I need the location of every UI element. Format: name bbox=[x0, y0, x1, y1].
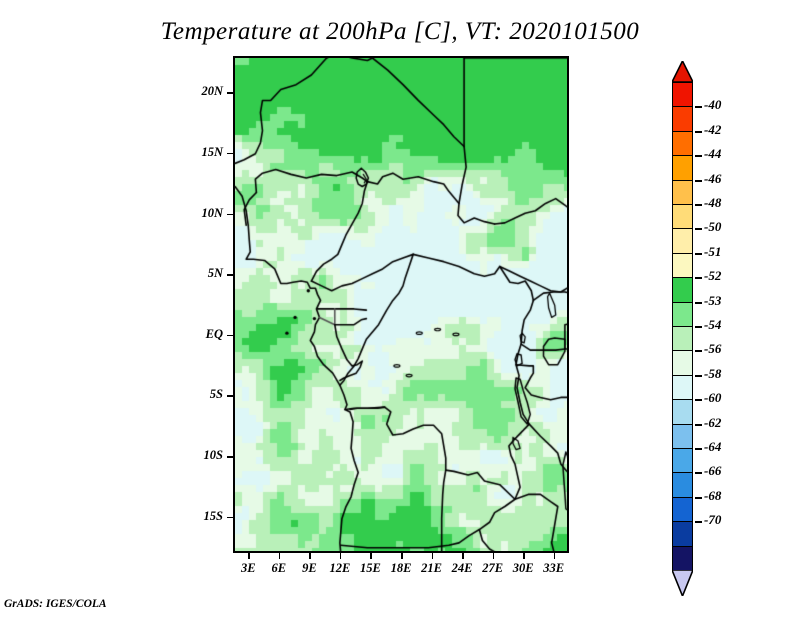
colorbar-tick bbox=[695, 155, 702, 157]
colorbar-tick-label: -53 bbox=[704, 293, 721, 309]
colorbar-swatch bbox=[672, 228, 693, 254]
latitude-tick-label: 5N bbox=[171, 266, 223, 281]
colorbar-swatch bbox=[672, 472, 693, 498]
colorbar-swatch bbox=[672, 204, 693, 230]
colorbar-tick-label: -60 bbox=[704, 390, 721, 406]
colorbar-tick bbox=[695, 180, 702, 182]
longitude-tick bbox=[370, 553, 372, 559]
colorbar-tick-label: -42 bbox=[704, 122, 721, 138]
colorbar-swatch bbox=[672, 399, 693, 425]
colorbar-tick-label: -52 bbox=[704, 268, 721, 284]
colorbar-swatch bbox=[672, 131, 693, 157]
colorbar-tick bbox=[695, 448, 702, 450]
colorbar-tick bbox=[695, 350, 702, 352]
colorbar-swatch bbox=[672, 302, 693, 328]
colorbar-tick bbox=[695, 131, 702, 133]
colorbar-swatch bbox=[672, 277, 693, 303]
colorbar-tick bbox=[695, 521, 702, 523]
colorbar-swatch bbox=[672, 546, 693, 572]
colorbar-tick bbox=[695, 204, 702, 206]
colorbar-tick-label: -66 bbox=[704, 463, 721, 479]
colorbar-tick bbox=[695, 375, 702, 377]
colorbar-tick bbox=[695, 497, 702, 499]
latitude-tick-label: 10N bbox=[171, 206, 223, 221]
latitude-tick bbox=[227, 517, 233, 519]
colorbar-tick-label: -54 bbox=[704, 317, 721, 333]
colorbar-tick bbox=[695, 399, 702, 401]
latitude-tick-label: 15N bbox=[171, 145, 223, 160]
colorbar-tick-label: -40 bbox=[704, 97, 721, 113]
latitude-tick-label: 10S bbox=[171, 448, 223, 463]
longitude-tick bbox=[279, 553, 281, 559]
latitude-tick bbox=[227, 456, 233, 458]
colorbar-tick bbox=[695, 253, 702, 255]
colorbar-swatch bbox=[672, 106, 693, 132]
colorbar-tick-label: -64 bbox=[704, 439, 721, 455]
longitude-tick bbox=[462, 553, 464, 559]
colorbar-swatch bbox=[672, 180, 693, 206]
colorbar-tick-label: -44 bbox=[704, 146, 721, 162]
latitude-tick bbox=[227, 395, 233, 397]
colorbar-swatch bbox=[672, 375, 693, 401]
colorbar-tick bbox=[695, 326, 702, 328]
longitude-tick bbox=[493, 553, 495, 559]
colorbar-tick-label: -46 bbox=[704, 171, 721, 187]
colorbar-tick-label: -58 bbox=[704, 366, 721, 382]
colorbar-swatch bbox=[672, 350, 693, 376]
colorbar-tick bbox=[695, 472, 702, 474]
colorbar-swatch bbox=[672, 253, 693, 279]
colorbar-tick bbox=[695, 302, 702, 304]
colorbar-tick-label: -68 bbox=[704, 488, 721, 504]
latitude-tick-label: 5S bbox=[171, 387, 223, 402]
colorbar-swatch bbox=[672, 82, 693, 108]
latitude-tick-label: EQ bbox=[171, 327, 223, 342]
colorbar-tick-label: -48 bbox=[704, 195, 721, 211]
colorbar-swatch bbox=[672, 155, 693, 181]
longitude-tick bbox=[432, 553, 434, 559]
colorbar-tick bbox=[695, 106, 702, 108]
longitude-tick bbox=[401, 553, 403, 559]
colorbar-tick bbox=[695, 277, 702, 279]
latitude-tick-label: 20N bbox=[171, 84, 223, 99]
page-title: Temperature at 200hPa [C], VT: 202010150… bbox=[0, 18, 800, 46]
longitude-tick bbox=[340, 553, 342, 559]
longitude-tick bbox=[554, 553, 556, 559]
colorbar-swatch bbox=[672, 448, 693, 474]
latitude-tick bbox=[227, 214, 233, 216]
longitude-tick bbox=[248, 553, 250, 559]
colorbar-tick-label: -62 bbox=[704, 415, 721, 431]
latitude-tick bbox=[227, 92, 233, 94]
temperature-field-canvas bbox=[235, 58, 569, 553]
colorbar-tick bbox=[695, 424, 702, 426]
latitude-tick bbox=[227, 274, 233, 276]
colorbar-tick bbox=[695, 228, 702, 230]
longitude-tick bbox=[523, 553, 525, 559]
colorbar-tick-label: -70 bbox=[704, 512, 721, 528]
colorbar-swatch bbox=[672, 424, 693, 450]
colorbar-under-arrow bbox=[672, 570, 693, 596]
footer-credit: GrADS: IGES/COLA bbox=[4, 598, 107, 610]
latitude-tick bbox=[227, 335, 233, 337]
latitude-tick-label: 15S bbox=[171, 509, 223, 524]
longitude-tick bbox=[309, 553, 311, 559]
colorbar-tick-label: -50 bbox=[704, 219, 721, 235]
colorbar-tick-label: -51 bbox=[704, 244, 721, 260]
colorbar-swatch bbox=[672, 497, 693, 523]
colorbar-tick-label: -56 bbox=[704, 341, 721, 357]
longitude-tick-label: 33E bbox=[532, 561, 576, 576]
colorbar-swatch bbox=[672, 521, 693, 547]
colorbar-over-arrow bbox=[672, 61, 693, 82]
latitude-tick bbox=[227, 153, 233, 155]
map-plot-area bbox=[233, 56, 569, 553]
colorbar: -40-42-44-46-48-50-51-52-53-54-56-58-60-… bbox=[660, 60, 800, 560]
colorbar-swatch bbox=[672, 326, 693, 352]
